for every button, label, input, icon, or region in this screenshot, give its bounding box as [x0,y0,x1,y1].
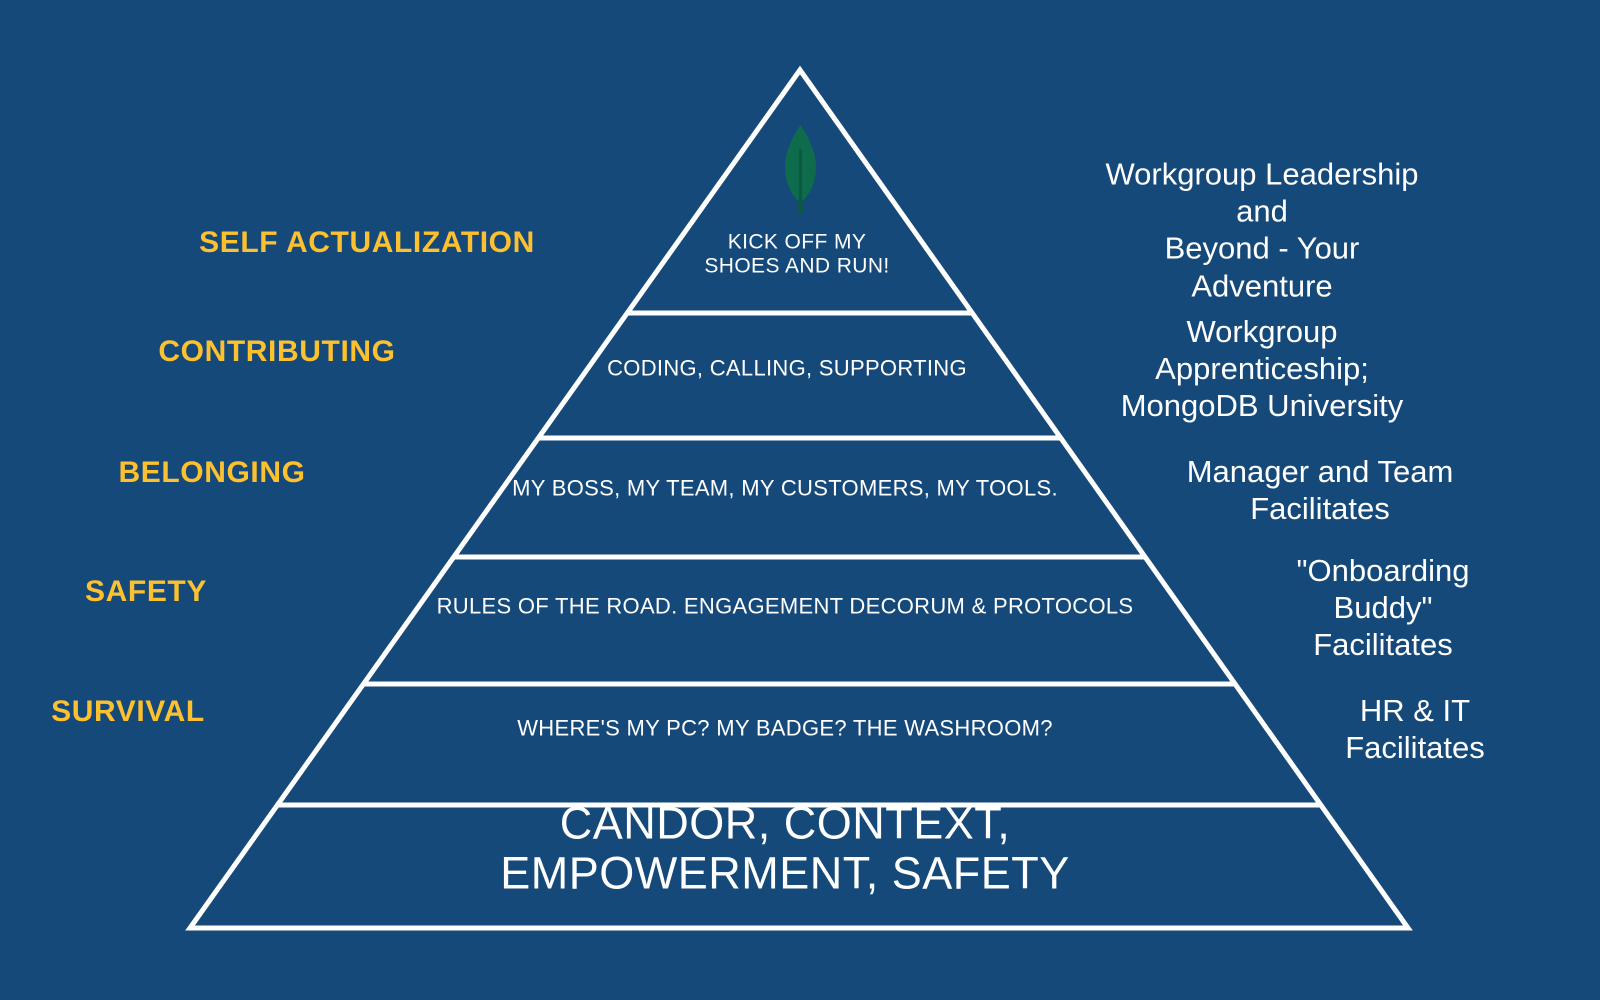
facilitator-safety: "Onboarding Buddy" Facilitates [1275,552,1492,664]
tier-label-belonging: BELONGING [118,456,305,490]
tier-label-safety: SAFETY [85,575,207,609]
tier-label-contributing: CONTRIBUTING [158,335,395,369]
facilitator-belonging: Manager and Team Facilitates [1187,453,1454,527]
facilitator-self-actualization: Workgroup Leadership and Beyond - Your A… [1093,156,1431,305]
tier-label-survival: SURVIVAL [51,695,205,729]
tier-label-self-actualization: SELF ACTUALIZATION [199,226,535,260]
mongodb-leaf-icon [785,125,816,213]
pyramid-diagram-canvas: SELF ACTUALIZATION CONTRIBUTING BELONGIN… [0,0,1600,1000]
facilitator-survival: HR & IT Facilitates [1345,692,1485,766]
facilitator-contributing: Workgroup Apprenticeship; MongoDB Univer… [1093,313,1431,425]
